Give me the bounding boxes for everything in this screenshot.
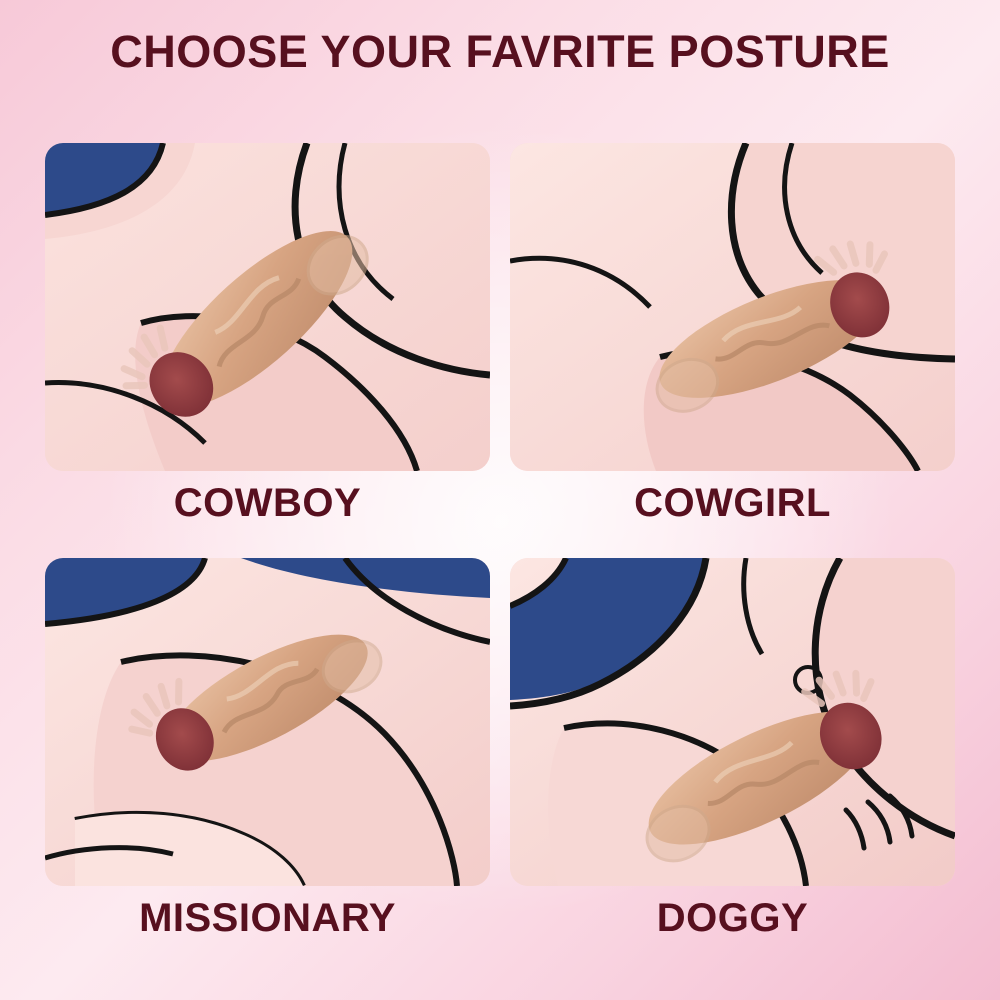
page-title: CHOOSE YOUR FAVRITE POSTURE [0,26,1000,78]
posture-grid: COWBOY [0,143,1000,973]
illustration-cowgirl [510,143,955,471]
posture-photo-missionary [45,558,490,886]
illustration-missionary [45,558,490,886]
illustration-cowboy [45,143,490,471]
posture-caption-missionary: MISSIONARY [45,892,490,944]
posture-caption-doggy: DOGGY [510,892,955,944]
posture-photo-cowboy [45,143,490,471]
illustration-doggy [510,558,955,886]
posture-card-cowgirl[interactable]: COWGIRL [510,143,955,543]
posture-caption-cowboy: COWBOY [45,477,490,529]
promo-banner: CHOOSE YOUR FAVRITE POSTURE [0,0,1000,1000]
posture-card-doggy[interactable]: DOGGY [510,558,955,958]
posture-card-missionary[interactable]: MISSIONARY [45,558,490,958]
posture-photo-doggy [510,558,955,886]
posture-photo-cowgirl [510,143,955,471]
posture-card-cowboy[interactable]: COWBOY [45,143,490,543]
posture-caption-cowgirl: COWGIRL [510,477,955,529]
